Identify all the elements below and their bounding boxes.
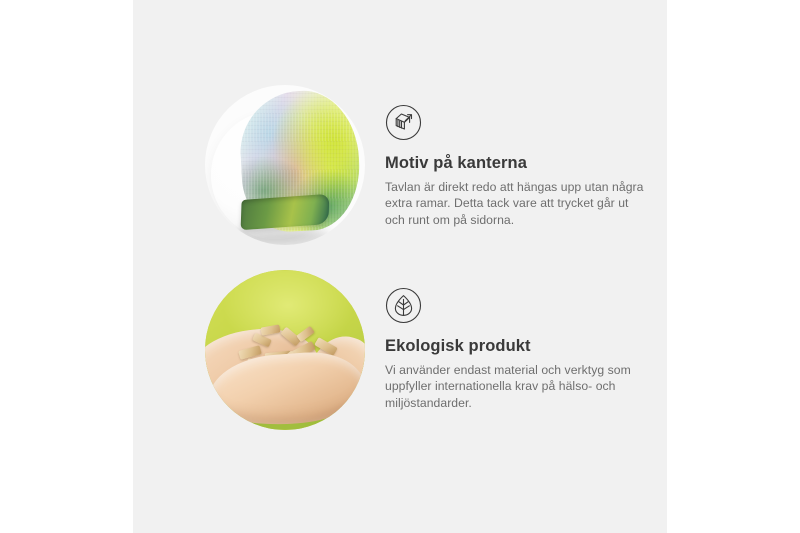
feature-title-eco: Ekologisk produkt [385,336,651,356]
canvas-wrapped-side [241,194,330,230]
feature-description-edges: Tavlan är direkt redo att hängas upp uta… [385,179,651,228]
wood-chips-in-hands-photo [205,270,365,430]
content-panel: Motiv på kanterna Tavlan är direkt redo … [133,0,667,533]
leaf-icon [385,287,422,324]
product-feature-banner: Motiv på kanterna Tavlan är direkt redo … [0,0,800,533]
feature-description-eco: Vi använder endast material och verktyg … [385,362,651,411]
feature-block-eco: Ekologisk produkt Vi använder endast mat… [133,243,667,443]
canvas-wrapped-edge-icon [385,104,422,141]
feature-title-edges: Motiv på kanterna [385,153,651,173]
feature-content-eco: Ekologisk produkt Vi använder endast mat… [385,287,651,411]
feature-content-edges: Motiv på kanterna Tavlan är direkt redo … [385,104,651,228]
canvas-block [241,91,359,231]
feature-block-edges: Motiv på kanterna Tavlan är direkt redo … [133,60,667,260]
canvas-corner-photo [205,85,365,245]
